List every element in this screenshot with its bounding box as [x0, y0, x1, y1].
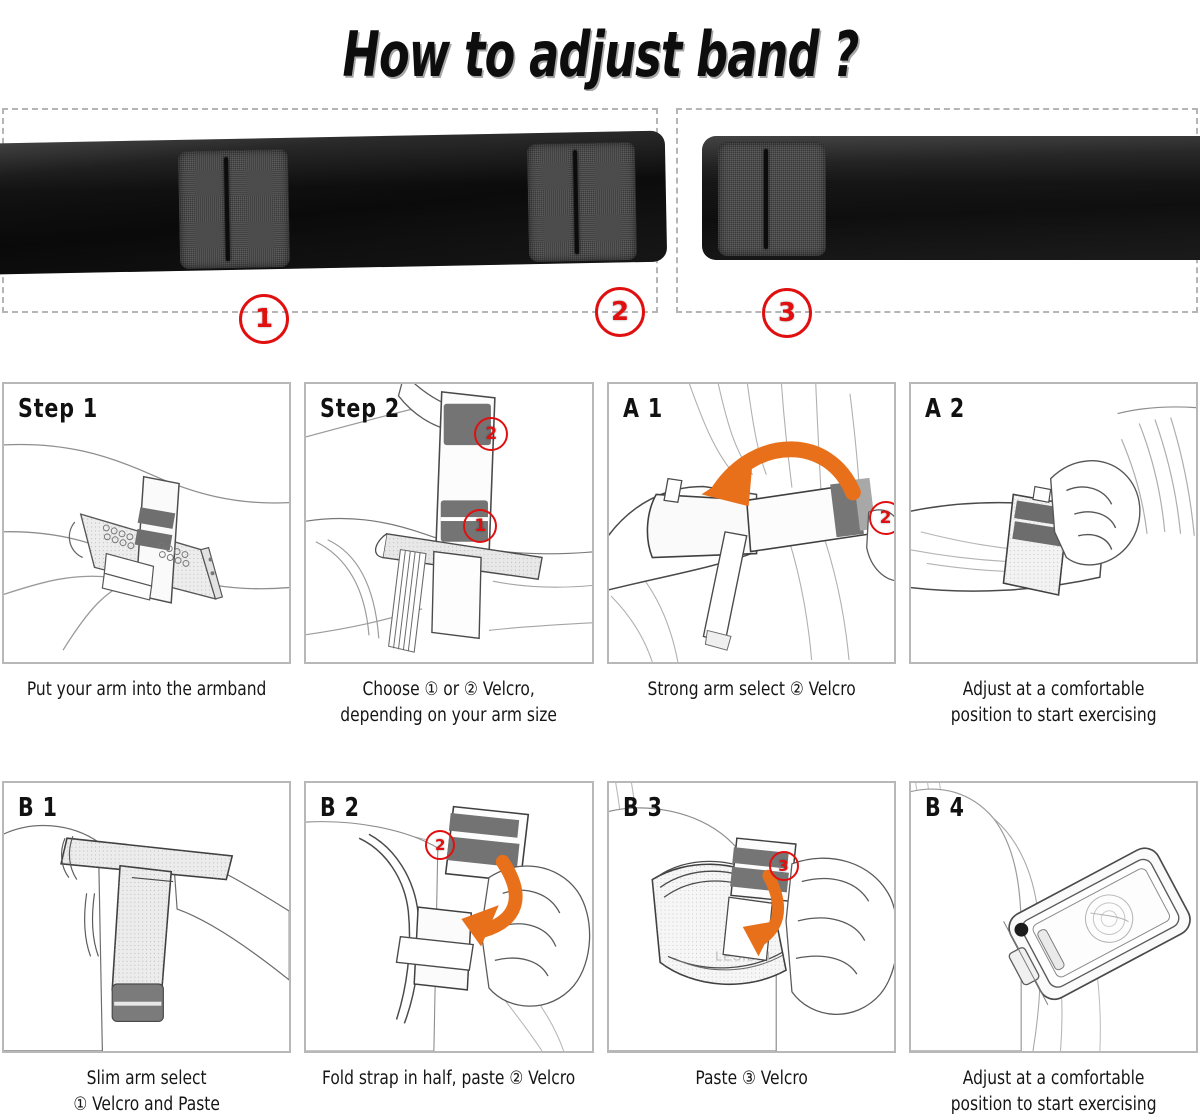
- instruction-row-b: B 1: [0, 781, 1200, 1119]
- paste-velcro-illustration: LESIBIN: [609, 783, 894, 1051]
- panel-caption: Strong arm select ② Velcro: [617, 677, 886, 703]
- panel-marker-2: 2: [474, 417, 508, 451]
- illustration-panel-b1: B 1: [2, 781, 291, 1053]
- velcro-patch-3: [718, 142, 826, 256]
- velcro-patch-2: [527, 142, 637, 262]
- panel-label: Step 1: [18, 394, 98, 424]
- panel-label: B 4: [925, 793, 965, 823]
- panel-caption: Paste ③ Velcro: [617, 1066, 886, 1092]
- panel-caption: Slim arm select① Velcro and Paste: [12, 1066, 281, 1119]
- panel-caption: Adjust at a comfortableposition to start…: [919, 1066, 1188, 1119]
- band-right-section: [676, 108, 1198, 313]
- illustration-panel-step-2: Step 2: [304, 382, 593, 664]
- instruction-cell-b4: B 4: [909, 781, 1198, 1119]
- panel-label: A 2: [925, 394, 965, 424]
- instruction-cell-step-2: Step 2: [304, 382, 593, 730]
- instruction-cell-step-1: Step 1: [2, 382, 291, 730]
- panel-label: B 3: [623, 793, 663, 823]
- band-left-section: [2, 108, 658, 313]
- instruction-cell-b1: B 1: [2, 781, 291, 1119]
- illustration-panel-a2: A 2: [909, 382, 1198, 664]
- instruction-row-a: Step 1: [0, 382, 1200, 730]
- band-marker-2: 2: [595, 287, 645, 337]
- armband-with-phone-illustration: [911, 783, 1196, 1051]
- panel-caption: Choose ① or ② Velcro,depending on your a…: [314, 677, 583, 730]
- armband-on-arm-illustration: [4, 384, 289, 662]
- page-title: How to adjust band ?: [342, 18, 858, 91]
- illustration-panel-a1: A 1: [607, 382, 896, 664]
- panel-label: A 1: [623, 394, 663, 424]
- choose-velcro-illustration: [306, 384, 591, 662]
- instruction-cell-b3: B 3: [607, 781, 896, 1119]
- illustration-panel-step-1: Step 1: [2, 382, 291, 664]
- fold-strap-illustration: [306, 783, 591, 1051]
- band-marker-3: 3: [762, 288, 812, 338]
- instruction-cell-a2: A 2: [909, 382, 1198, 730]
- header: How to adjust band ?: [0, 0, 1200, 108]
- instruction-cell-a1: A 1: [607, 382, 896, 730]
- panel-marker-3: 3: [769, 851, 799, 881]
- panel-label: B 2: [320, 793, 360, 823]
- panel-caption: Fold strap in half, paste ② Velcro: [314, 1066, 583, 1092]
- band-diagram: 1 2 3: [0, 108, 1200, 313]
- slim-arm-velcro-illustration: [4, 783, 289, 1051]
- panel-caption: Adjust at a comfortableposition to start…: [919, 677, 1188, 730]
- panel-label: B 1: [18, 793, 58, 823]
- panel-label: Step 2: [320, 394, 400, 424]
- illustration-panel-b4: B 4: [909, 781, 1198, 1053]
- illustration-panel-b3: B 3: [607, 781, 896, 1053]
- panel-marker-1: 1: [463, 509, 497, 543]
- band-marker-1: 1: [239, 294, 289, 344]
- adjust-position-illustration: [911, 384, 1196, 662]
- illustration-panel-b2: B 2: [304, 781, 593, 1053]
- panel-caption: Put your arm into the armband: [12, 677, 281, 703]
- velcro-patch-1: [178, 149, 290, 269]
- strong-arm-velcro-illustration: [609, 384, 894, 662]
- instruction-cell-b2: B 2: [304, 781, 593, 1119]
